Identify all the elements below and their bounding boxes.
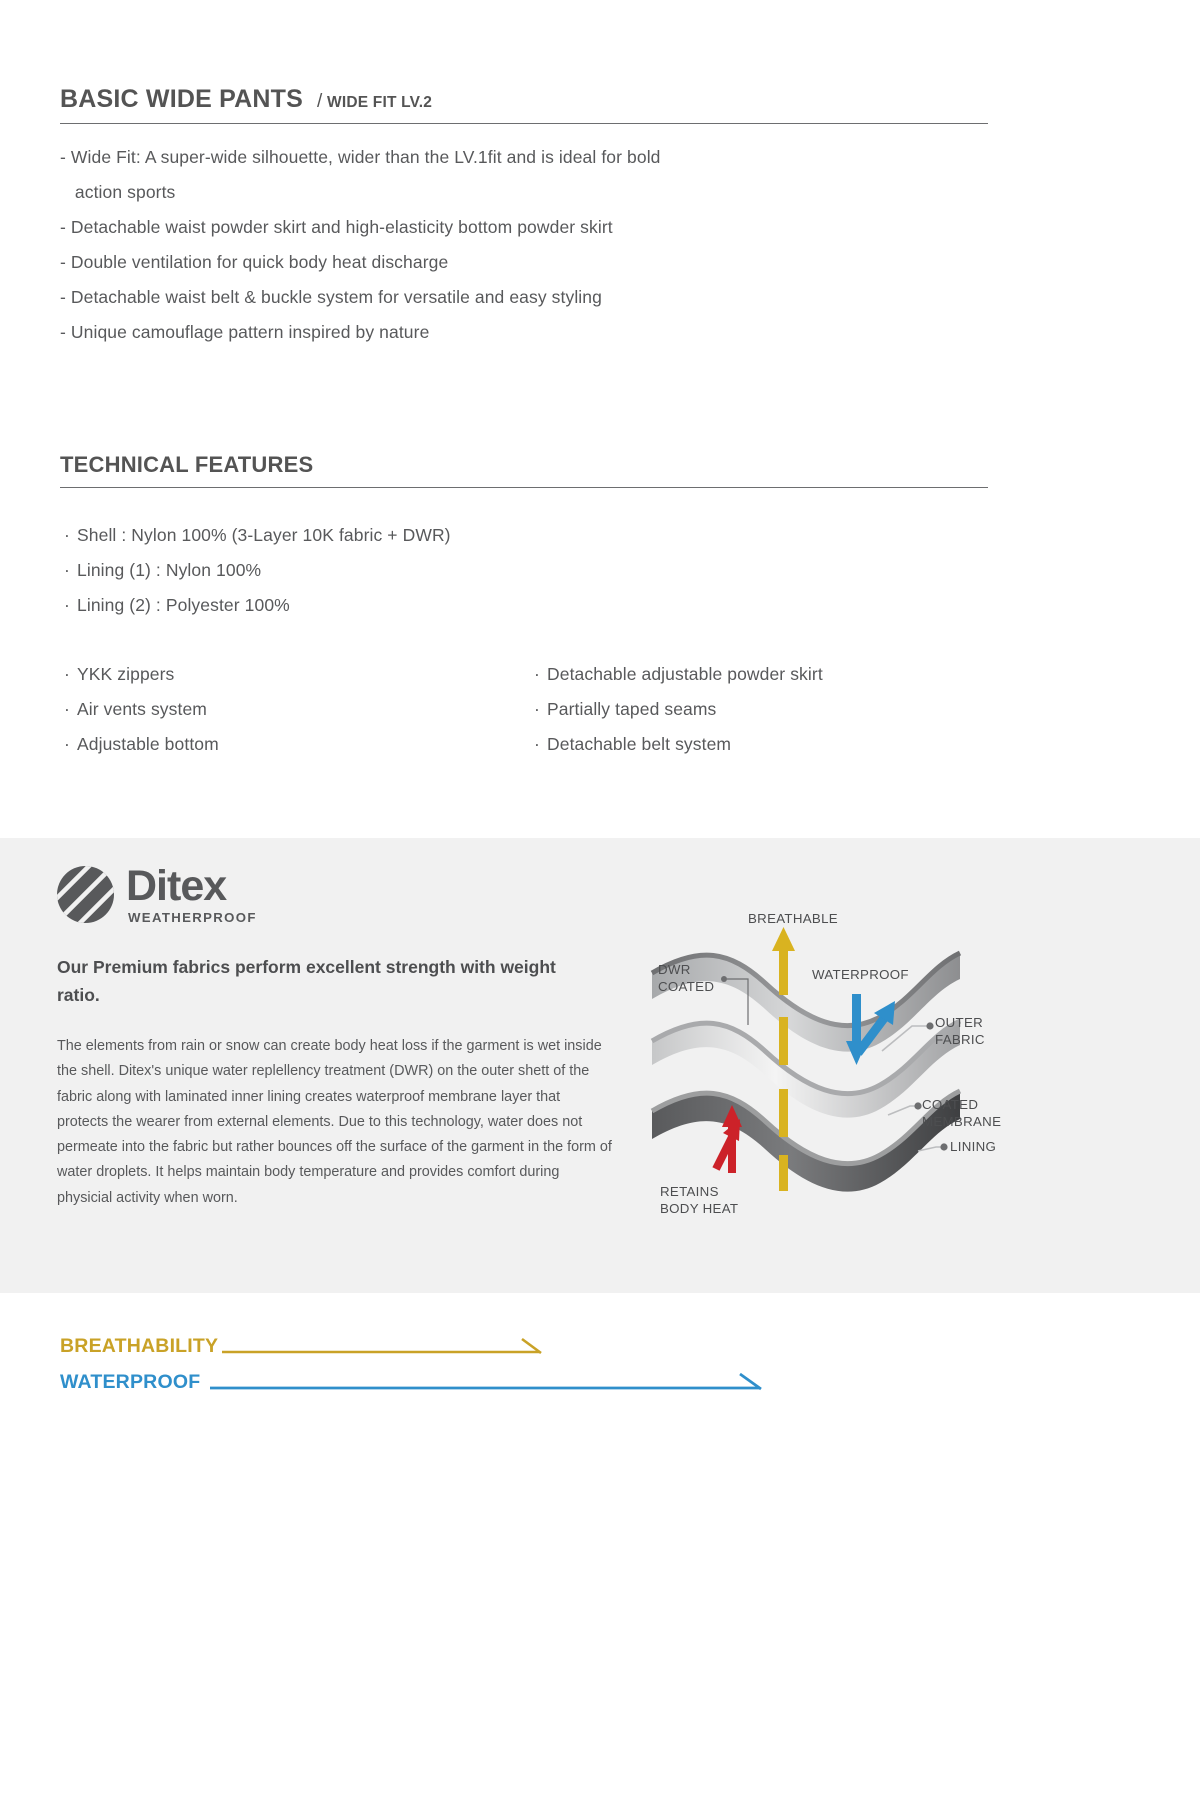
breathability-meter: BREATHABILITY xyxy=(60,1335,558,1358)
list-item: ·YKK zippers xyxy=(64,657,534,692)
list-item-label: Adjustable bottom xyxy=(77,734,219,754)
list-item-label: YKK zippers xyxy=(77,664,174,684)
list-item: - Wide Fit: A super-wide silhouette, wid… xyxy=(60,140,1000,210)
technical-features-columns: ·YKK zippers ·Air vents system ·Adjustab… xyxy=(64,657,1004,762)
ditex-panel: Ditex WEATHERPROOF Our Premium fabrics p… xyxy=(0,838,1200,1293)
product-subtitle: / WIDE FIT LV.2 xyxy=(317,91,432,113)
bullet-dot: · xyxy=(64,727,77,762)
title-slash: / xyxy=(317,91,322,112)
list-item-label: Air vents system xyxy=(77,699,207,719)
ditex-body-text: The elements from rain or snow can creat… xyxy=(57,1034,612,1211)
bullet-dot: · xyxy=(64,518,77,553)
ditex-logo: Ditex WEATHERPROOF xyxy=(57,865,257,924)
features-column-left: ·YKK zippers ·Air vents system ·Adjustab… xyxy=(64,657,534,762)
product-feature-list: - Wide Fit: A super-wide silhouette, wid… xyxy=(60,140,1000,350)
diagram-label-lining: LINING xyxy=(950,1138,996,1155)
ditex-brand-tagline: WEATHERPROOF xyxy=(128,911,257,924)
bullet-dot: · xyxy=(534,727,547,762)
list-item-label: Partially taped seams xyxy=(547,699,716,719)
list-item: ·Partially taped seams xyxy=(534,692,1004,727)
diagram-label-waterproof: WATERPROOF xyxy=(812,966,909,983)
list-item: ·Detachable adjustable powder skirt xyxy=(534,657,1004,692)
technical-features-heading: TECHNICAL FEATURES xyxy=(60,452,988,488)
list-item: ·Detachable belt system xyxy=(534,727,1004,762)
diagram-label-retains-body-heat: RETAINS BODY HEAT xyxy=(660,1183,738,1217)
bullet-dot: · xyxy=(534,657,547,692)
material-list: ·Shell : Nylon 100% (3-Layer 10K fabric … xyxy=(64,518,1004,623)
ditex-lead-text: Our Premium fabrics perform excellent st… xyxy=(57,953,602,1009)
list-item: - Detachable waist powder skirt and high… xyxy=(60,210,1000,245)
list-item-label: Detachable adjustable powder skirt xyxy=(547,664,823,684)
list-item-label: Shell : Nylon 100% (3-Layer 10K fabric +… xyxy=(77,525,451,545)
bullet-dot: · xyxy=(64,553,77,588)
list-item: ·Lining (2) : Polyester 100% xyxy=(64,588,1004,623)
breathability-label: BREATHABILITY xyxy=(60,1335,218,1358)
technical-features-title: TECHNICAL FEATURES xyxy=(60,452,313,477)
fabric-layer-diagram: BREATHABLE DWR COATED WATERPROOF OUTER F… xyxy=(630,893,1030,1238)
list-item: ·Adjustable bottom xyxy=(64,727,534,762)
bullet-dot: · xyxy=(64,588,77,623)
features-column-right: ·Detachable adjustable powder skirt ·Par… xyxy=(534,657,1004,762)
waterproof-meter: WATERPROOF xyxy=(60,1371,770,1394)
diagram-label-breathable: BREATHABLE xyxy=(748,910,838,927)
leader-coated-membrane xyxy=(888,1102,922,1115)
breathability-arrow-icon xyxy=(218,1336,558,1358)
bullet-dot: · xyxy=(534,692,547,727)
page-title: BASIC WIDE PANTS / WIDE FIT LV.2 xyxy=(60,85,988,124)
ditex-brand-name: Ditex xyxy=(126,865,257,908)
list-item: ·Lining (1) : Nylon 100% xyxy=(64,553,1004,588)
product-title: BASIC WIDE PANTS xyxy=(60,85,303,114)
bullet-dot: · xyxy=(64,657,77,692)
ditex-wordmark: Ditex WEATHERPROOF xyxy=(126,865,257,924)
list-item: ·Air vents system xyxy=(64,692,534,727)
waterproof-arrow-icon xyxy=(200,1372,770,1394)
bullet-dot: · xyxy=(64,692,77,727)
waterproof-label: WATERPROOF xyxy=(60,1371,200,1394)
list-item-label: Lining (1) : Nylon 100% xyxy=(77,560,261,580)
ditex-circle-stripes-icon xyxy=(57,866,114,923)
list-item: - Unique camouflage pattern inspired by … xyxy=(60,315,1000,350)
product-spec-page: BASIC WIDE PANTS / WIDE FIT LV.2 - Wide … xyxy=(0,0,1200,1800)
diagram-label-coated-membrane: COATED MEMBRANE xyxy=(922,1096,1001,1130)
list-item-label: Lining (2) : Polyester 100% xyxy=(77,595,290,615)
list-item: - Detachable waist belt & buckle system … xyxy=(60,280,1000,315)
list-item-label: Detachable belt system xyxy=(547,734,731,754)
diagram-label-dwr-coated: DWR COATED xyxy=(658,961,714,995)
product-fit-level: WIDE FIT LV.2 xyxy=(327,94,432,111)
diagram-label-outer-fabric: OUTER FABRIC xyxy=(935,1014,985,1048)
list-item: ·Shell : Nylon 100% (3-Layer 10K fabric … xyxy=(64,518,1004,553)
list-item: - Double ventilation for quick body heat… xyxy=(60,245,1000,280)
